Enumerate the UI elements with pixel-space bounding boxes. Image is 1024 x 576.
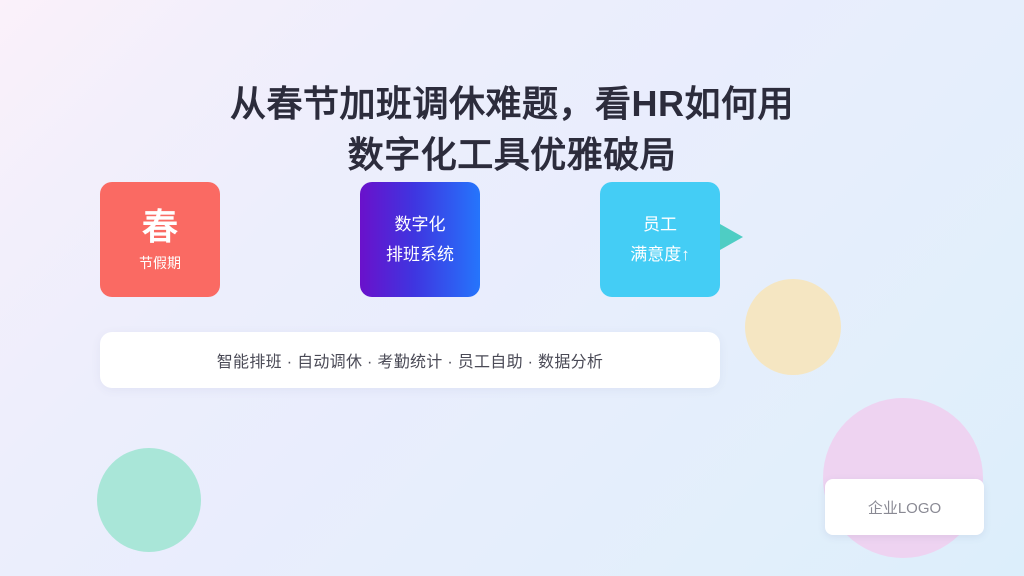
card-satisfaction-line-2: 满意度↑: [630, 240, 690, 270]
card-holiday-big-label: 春: [142, 207, 178, 247]
slide-title-line-1: 从春节加班调休难题，看HR如何用: [0, 78, 1024, 129]
feature-bar-text: 智能排班 · 自动调休 · 考勤统计 · 员工自助 · 数据分析: [217, 348, 603, 372]
card-system-line-2: 排班系统: [386, 240, 454, 270]
cream-circle-decoration: [745, 279, 841, 375]
card-satisfaction-line-1: 员工: [643, 210, 677, 240]
slide-title: 从春节加班调休难题，看HR如何用 数字化工具优雅破局: [0, 78, 1024, 180]
card-holiday-small-label: 节假期: [139, 255, 181, 272]
company-logo-box[interactable]: 企业LOGO: [825, 479, 984, 535]
card-employee-satisfaction[interactable]: 员工 满意度↑: [600, 182, 720, 297]
feature-bar: 智能排班 · 自动调休 · 考勤统计 · 员工自助 · 数据分析: [100, 332, 720, 388]
card-holiday[interactable]: 春 节假期: [100, 182, 220, 297]
mint-circle-decoration: [97, 448, 201, 552]
slide-title-line-2: 数字化工具优雅破局: [0, 129, 1024, 180]
company-logo-text: 企业LOGO: [868, 497, 941, 518]
slide-canvas: 从春节加班调休难题，看HR如何用 数字化工具优雅破局 春 节假期 数字化 排班系…: [0, 0, 1024, 576]
card-scheduling-system[interactable]: 数字化 排班系统: [360, 182, 480, 297]
card-system-line-1: 数字化: [395, 210, 446, 240]
speech-tail-icon: [720, 224, 743, 250]
